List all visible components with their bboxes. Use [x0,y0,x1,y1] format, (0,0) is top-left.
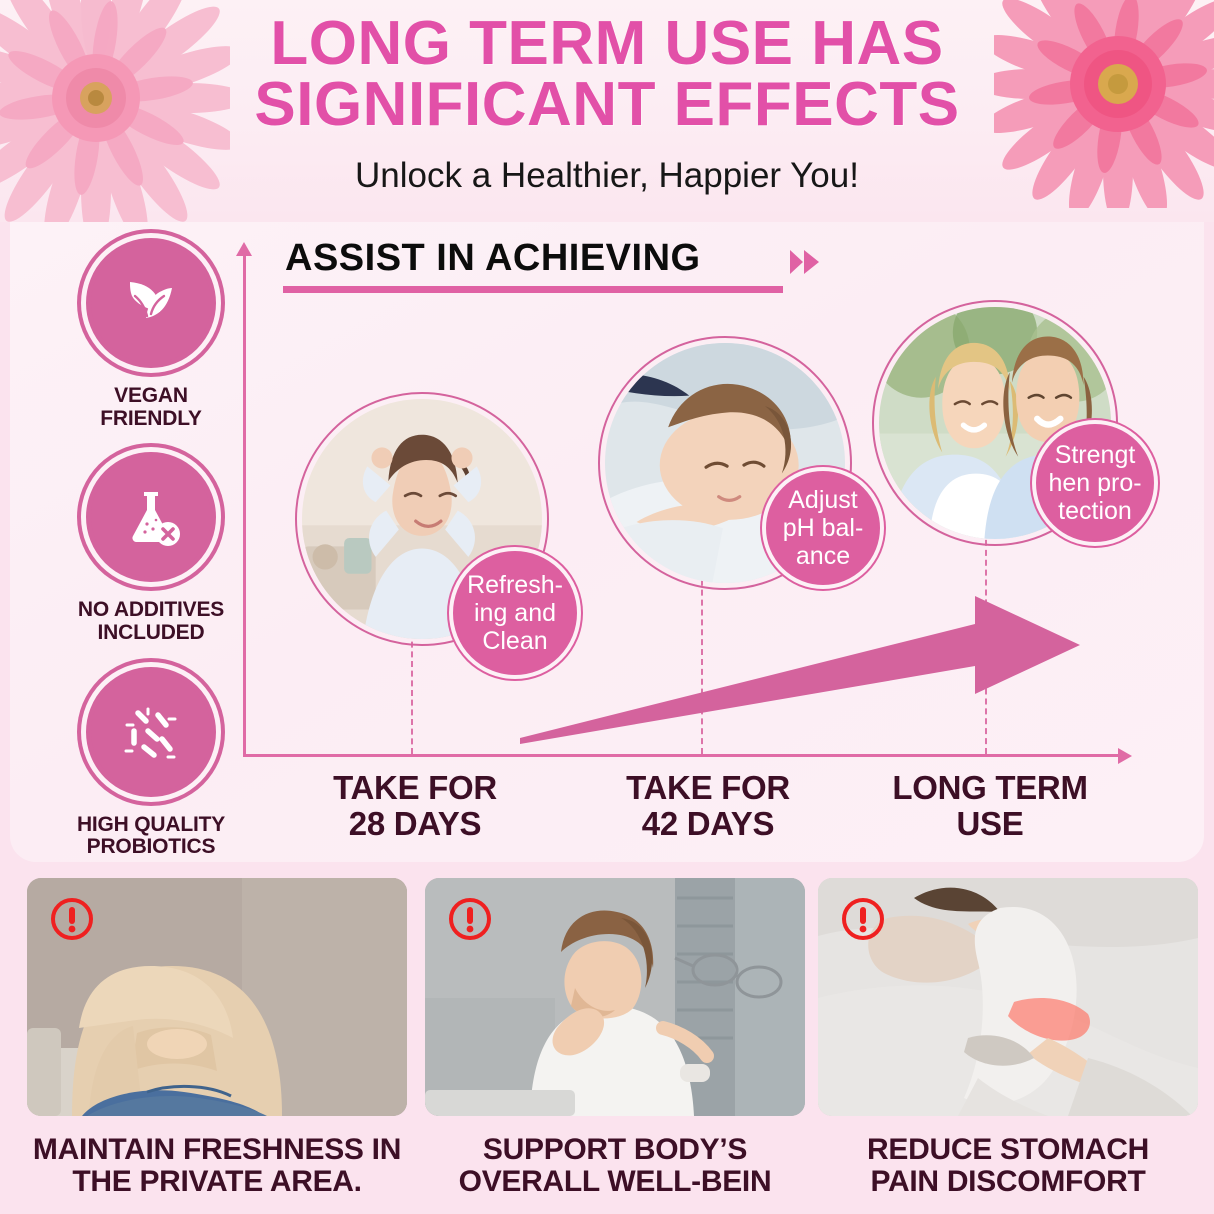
x-label-line-2: 28 DAYS [285,806,545,842]
callout-bubble-strengthen-protection: Strengt hen pro- tection [1036,424,1154,542]
tired-woman-rubbing-eyes-photo [425,878,805,1116]
badge-label-line-1: HIGH QUALITY [56,814,246,837]
page-title-line-1: LONG TERM USE HAS [0,14,1214,75]
woman-seated-holding-lower-abdomen-photo [27,878,407,1116]
page-title: LONG TERM USE HAS SIGNIFICANT EFFECTS [0,14,1214,136]
caption-line-2: PAIN DISCOMFORT [818,1166,1198,1198]
chart-heading: ASSIST IN ACHIEVING [285,237,701,280]
feature-badge-high-quality-probiotics: HIGH QUALITY PROBIOTICS [56,667,246,859]
benefit-card-caption: SUPPORT BODY’S OVERALL WELL-BEIN [425,1134,805,1198]
growth-trend-arrow [520,588,1130,768]
exclamation-circle-icon [447,896,493,942]
x-axis-label-long-term-use: LONG TERM USE [860,770,1120,841]
callout-line-2: hen pro- [1044,469,1145,497]
page-title-line-2: SIGNIFICANT EFFECTS [0,75,1214,136]
callout-line-3: Clean [463,627,567,655]
feature-badge-no-additives: NO ADDITIVES INCLUDED [56,452,246,644]
callout-line-1: Refresh- [463,571,567,599]
probiotic-bacteria-icon [86,667,216,797]
exclamation-circle-icon [49,896,95,942]
benefit-card-list: MAINTAIN FRESHNESS IN THE PRIVATE AREA. [0,866,1214,1214]
benefit-card-reduce-stomach-pain: REDUCE STOMACH PAIN DISCOMFORT [818,878,1198,1198]
caption-line-2: OVERALL WELL-BEIN [425,1166,805,1198]
benefit-card-caption: MAINTAIN FRESHNESS IN THE PRIVATE AREA. [27,1134,407,1198]
x-label-line-1: LONG TERM [860,770,1120,806]
badge-label-line-2: INCLUDED [56,622,246,645]
x-axis-label-28-days: TAKE FOR 28 DAYS [285,770,545,841]
feature-badge-vegan-friendly: VEGAN FRIENDLY [56,238,246,430]
infographic-root: LONG TERM USE HAS SIGNIFICANT EFFECTS Un… [0,0,1214,1214]
x-axis-label-42-days: TAKE FOR 42 DAYS [578,770,838,841]
benefit-card-caption: REDUCE STOMACH PAIN DISCOMFORT [818,1134,1198,1198]
callout-bubble-refreshing-and-clean: Refresh- ing and Clean [453,551,577,675]
callout-line-3: tection [1044,497,1145,525]
play-arrow-icon [788,248,822,276]
badge-label-line-1: NO ADDITIVES [56,599,246,622]
x-label-line-1: TAKE FOR [285,770,545,806]
tick-connector-1 [411,632,413,754]
callout-line-2: ing and [463,599,567,627]
x-label-line-2: USE [860,806,1120,842]
callout-line-3: ance [779,542,868,570]
feature-badge-label: NO ADDITIVES INCLUDED [56,599,246,644]
badge-label-line-2: PROBIOTICS [56,836,246,859]
feature-badge-list: VEGAN FRIENDLY NO ADDITIVES INCLUDED [56,238,246,881]
flask-no-additives-icon [86,452,216,582]
callout-line-2: pH bal- [779,514,868,542]
chart-heading-underline [283,286,783,293]
caption-line-1: MAINTAIN FRESHNESS IN [27,1134,407,1166]
x-axis-arrowhead [1118,748,1132,764]
woman-lying-in-bed-stomach-pain-photo [818,878,1198,1116]
feature-badge-label: HIGH QUALITY PROBIOTICS [56,814,246,859]
callout-bubble-adjust-ph-balance: Adjust pH bal- ance [766,471,880,585]
badge-label-line-2: FRIENDLY [56,408,246,431]
exclamation-circle-icon [840,896,886,942]
page-subtitle: Unlock a Healthier, Happier You! [0,156,1214,196]
caption-line-1: SUPPORT BODY’S [425,1134,805,1166]
x-label-line-2: 42 DAYS [578,806,838,842]
leaf-icon [86,238,216,368]
benefit-card-maintain-freshness: MAINTAIN FRESHNESS IN THE PRIVATE AREA. [27,878,407,1198]
x-label-line-1: TAKE FOR [578,770,838,806]
caption-line-1: REDUCE STOMACH [818,1134,1198,1166]
badge-label-line-1: VEGAN [56,385,246,408]
callout-line-1: Strengt [1044,441,1145,469]
callout-line-1: Adjust [779,486,868,514]
caption-line-2: THE PRIVATE AREA. [27,1166,407,1198]
feature-badge-label: VEGAN FRIENDLY [56,385,246,430]
x-axis-line [243,754,1123,757]
header-banner: LONG TERM USE HAS SIGNIFICANT EFFECTS Un… [0,0,1214,222]
benefit-card-support-wellbeing: SUPPORT BODY’S OVERALL WELL-BEIN [425,878,805,1198]
